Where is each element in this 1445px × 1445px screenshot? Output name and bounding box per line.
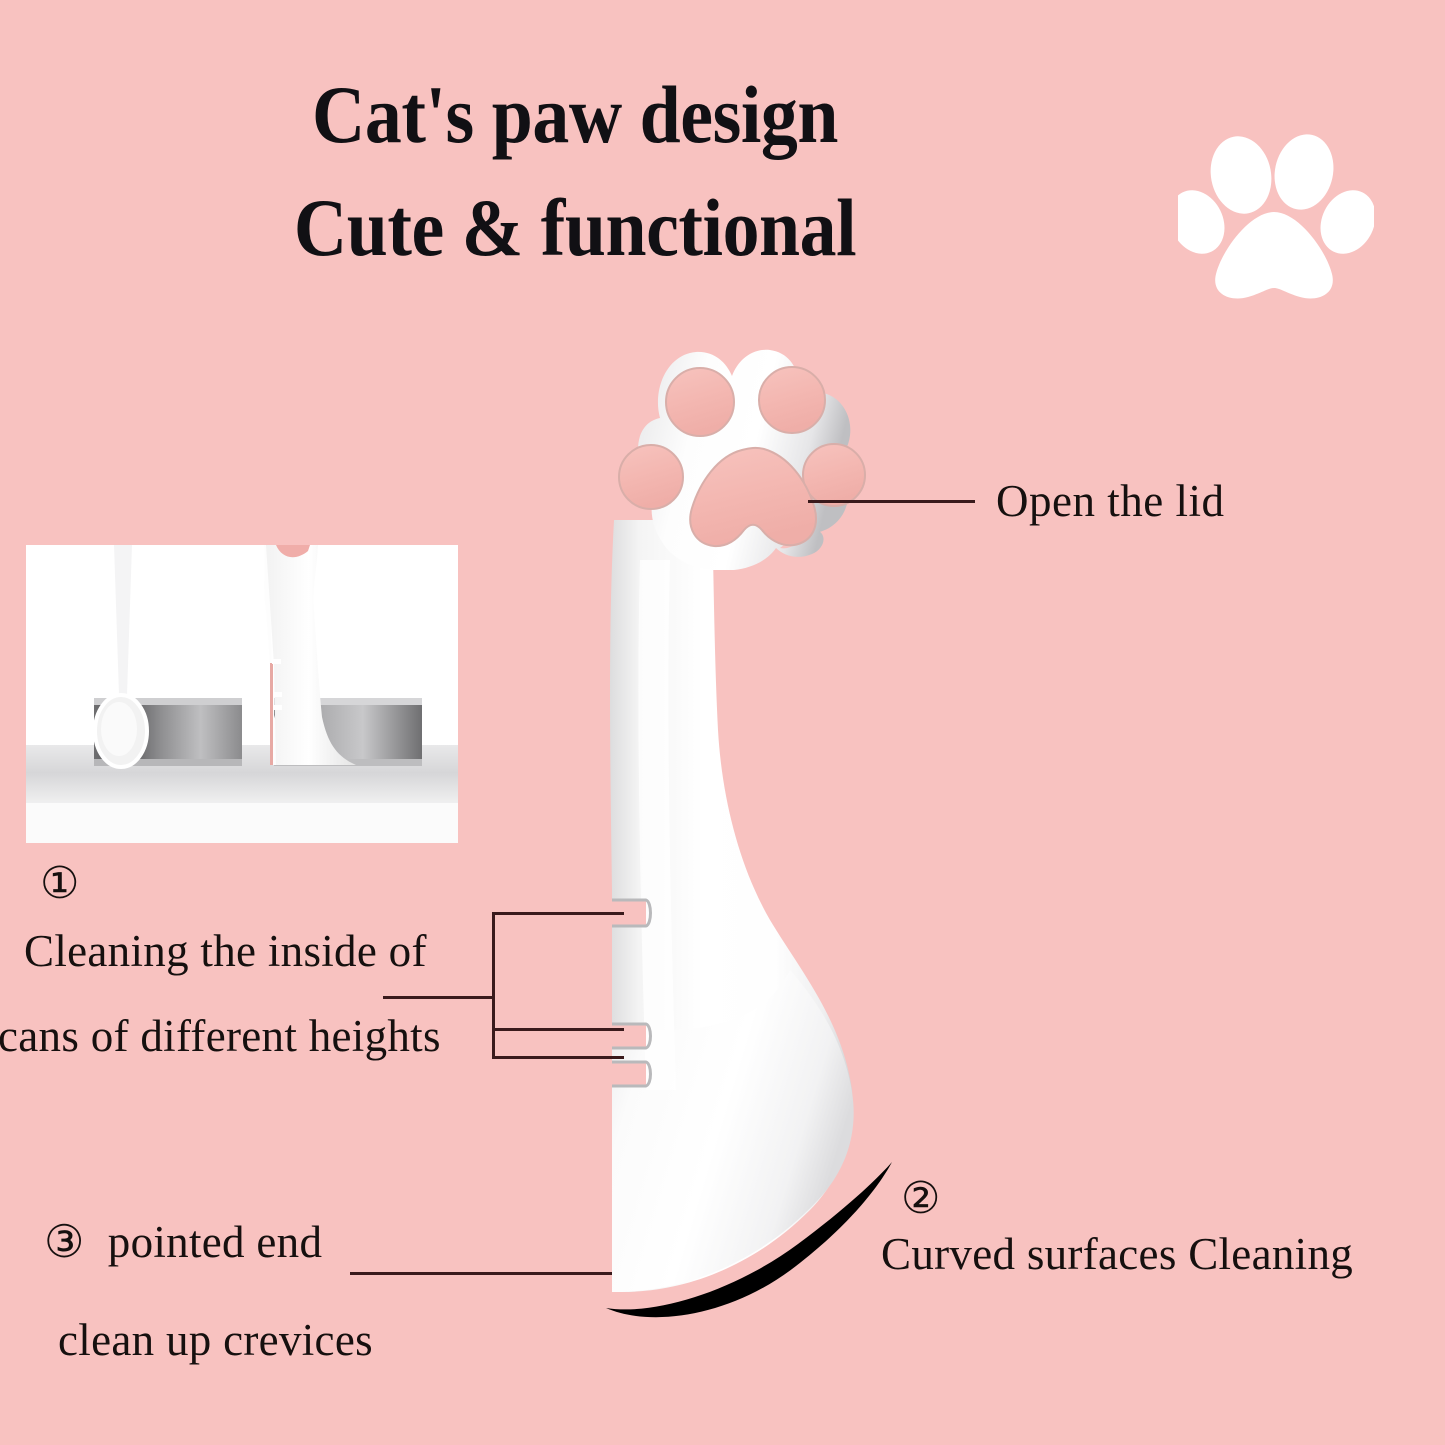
leader-line-lid — [808, 500, 975, 503]
paw-print-icon — [1178, 132, 1374, 302]
callout-1-line-2: cans of different heights — [0, 1010, 441, 1062]
leader-branch-upper — [492, 912, 624, 915]
callout-2-line-1: Curved surfaces Cleaning — [881, 1228, 1353, 1280]
callout-3-marker: ③ — [44, 1217, 85, 1267]
cans-cleaning-photo — [26, 545, 458, 843]
page-title: Cat's paw design Cute & functional — [0, 58, 1150, 284]
callout-3-line-1: ③ pointed end — [44, 1215, 322, 1268]
callout-open-the-lid: Open the lid — [996, 475, 1224, 527]
leader-branch-middle — [492, 1028, 624, 1031]
infographic-canvas: Cat's paw design Cute & functional — [0, 0, 1445, 1445]
leader-branch-lower — [492, 1056, 624, 1059]
callout-1-marker: ① — [40, 858, 79, 909]
callout-1-line-1: Cleaning the inside of — [24, 925, 427, 977]
callout-3-line-2: clean up crevices — [58, 1314, 373, 1366]
leader-bracket-trunk-lower — [492, 1028, 495, 1059]
callout-2-marker: ② — [901, 1173, 940, 1224]
leader-line-pointed-end — [350, 1272, 612, 1275]
headline-line-1: Cat's paw design — [58, 58, 1093, 171]
leader-bracket-stub — [383, 996, 495, 999]
headline-line-2: Cute & functional — [58, 171, 1093, 284]
callout-3-text: pointed end — [108, 1217, 323, 1267]
